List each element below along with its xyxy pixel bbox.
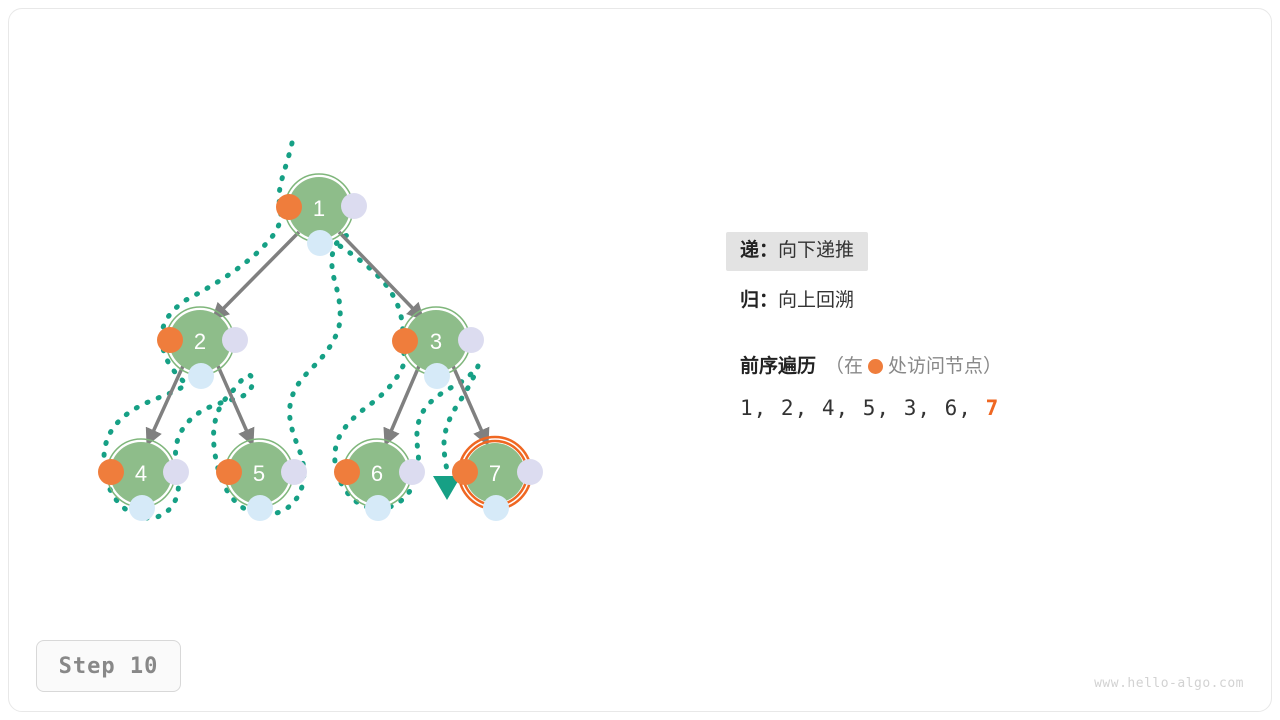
node-label: 6 xyxy=(371,461,383,486)
figure-canvas: 1 2 3 4 xyxy=(0,0,1280,720)
traversal-paren-text: 处访问节点） xyxy=(888,356,1002,377)
legend-row-backtrack: 归：向上回溯 xyxy=(726,282,1226,321)
legend-panel: 递：向下递推 归：向上回溯 前序遍历（在处访问节点） 1, 2, 4, 5, 3… xyxy=(726,232,1226,420)
tree-node-5[interactable]: 5 xyxy=(216,439,307,521)
node-bottom-dot xyxy=(424,363,450,389)
node-label: 3 xyxy=(430,329,442,354)
node-right-dot xyxy=(458,327,484,353)
node-bottom-dot xyxy=(188,363,214,389)
node-label: 7 xyxy=(489,461,501,486)
node-label: 5 xyxy=(253,461,265,486)
node-bottom-dot xyxy=(307,230,333,256)
node-visit-dot xyxy=(157,327,183,353)
tree-node-7[interactable]: 7 xyxy=(452,437,543,521)
node-label: 1 xyxy=(313,196,325,221)
node-right-dot xyxy=(341,193,367,219)
node-bottom-dot xyxy=(483,495,509,521)
node-right-dot xyxy=(281,459,307,485)
legend-row-recurse: 递：向下递推 xyxy=(726,232,868,271)
node-bottom-dot xyxy=(129,495,155,521)
legend-row-backtrack-keyword: 归： xyxy=(740,290,778,311)
traversal-paren-open: （在 xyxy=(825,356,863,377)
step-badge: Step 10 xyxy=(36,640,181,692)
tree-node-6[interactable]: 6 xyxy=(334,439,425,521)
orange-dot-icon xyxy=(868,359,883,374)
legend-row-backtrack-text: 向上回溯 xyxy=(778,290,854,311)
watermark: www.hello-algo.com xyxy=(1094,676,1244,691)
traversal-title: 前序遍历（在处访问节点） xyxy=(726,351,1226,378)
node-visit-dot xyxy=(276,194,302,220)
node-label: 4 xyxy=(135,461,147,486)
node-visit-dot xyxy=(334,459,360,485)
node-bottom-dot xyxy=(247,495,273,521)
edge-3-6 xyxy=(386,366,419,443)
node-right-dot xyxy=(399,459,425,485)
traversal-sequence-visited: 1, 2, 4, 5, 3, 6, xyxy=(740,396,972,420)
traversal-sequence: 1, 2, 4, 5, 3, 6, 7 xyxy=(726,396,1226,420)
tree-node-2[interactable]: 2 xyxy=(157,307,248,389)
node-visit-dot xyxy=(98,459,124,485)
node-visit-dot xyxy=(216,459,242,485)
legend-row-recurse-keyword: 递： xyxy=(740,240,778,261)
node-visit-dot xyxy=(392,328,418,354)
traversal-name: 前序遍历 xyxy=(740,356,816,377)
edge-3-7 xyxy=(453,366,487,443)
node-right-dot xyxy=(517,459,543,485)
node-label: 2 xyxy=(194,329,206,354)
node-right-dot xyxy=(222,327,248,353)
node-right-dot xyxy=(163,459,189,485)
edge-1-3 xyxy=(339,232,422,318)
traversal-sequence-current: 7 xyxy=(986,396,1000,420)
legend-row-recurse-text: 向下递推 xyxy=(778,240,854,261)
edge-2-4 xyxy=(148,366,183,443)
node-visit-dot xyxy=(452,459,478,485)
node-bottom-dot xyxy=(365,495,391,521)
step-badge-label: Step 10 xyxy=(59,654,159,679)
